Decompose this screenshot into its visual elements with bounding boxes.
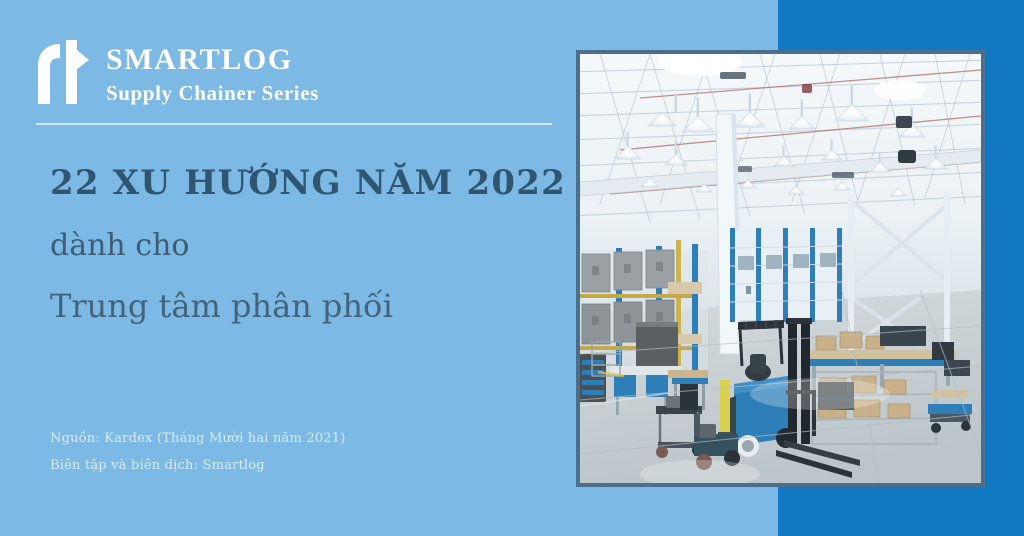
brand-name: SMARTLOG xyxy=(106,44,319,76)
header-divider xyxy=(36,123,552,125)
brand-wordmark: SMARTLOG Supply Chainer Series xyxy=(106,40,319,107)
warehouse-interior-photo xyxy=(580,54,981,483)
page-title: 22 XU HƯỚNG NĂM 2022 xyxy=(50,163,566,203)
brand-tagline: Supply Chainer Series xyxy=(106,79,319,107)
warehouse-photo-frame xyxy=(576,50,985,487)
smartlog-rt-monogram-icon xyxy=(36,40,90,108)
credit-note: Biên tập và biên dịch: Smartlog xyxy=(50,458,265,473)
subtitle-line-1: dành cho xyxy=(50,228,189,263)
slide-canvas: SMARTLOG Supply Chainer Series 22 XU HƯỚ… xyxy=(0,0,1024,536)
subtitle-line-2: Trung tâm phân phối xyxy=(50,287,393,325)
source-note: Nguồn: Kardex (Tháng Mười hai năm 2021) xyxy=(50,431,346,446)
brand-logo-block: SMARTLOG Supply Chainer Series xyxy=(36,40,319,108)
